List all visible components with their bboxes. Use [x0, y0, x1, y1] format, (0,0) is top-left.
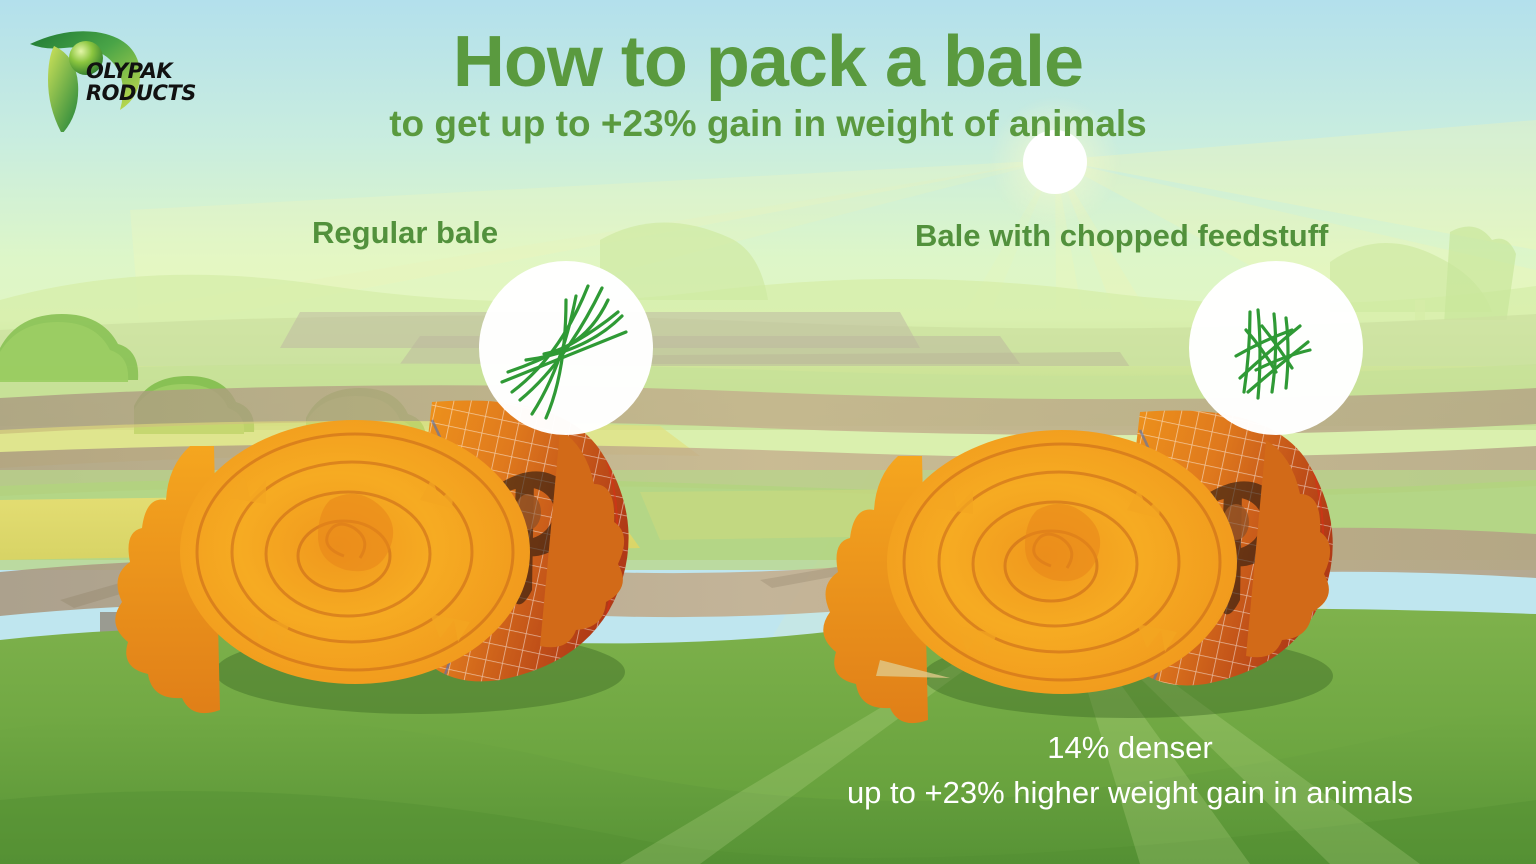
- page-title: How to pack a bale: [0, 26, 1536, 98]
- brand-logo-text: OLYPAK RODUCTS: [86, 60, 196, 104]
- infographic-canvas: How to pack a bale to get up to +23% gai…: [0, 0, 1536, 864]
- label-chopped-bale: Bale with chopped feedstuff: [915, 218, 1328, 254]
- brand-logo-line1: OLYPAK: [86, 60, 196, 82]
- caption-weight-gain: up to +23% higher weight gain in animals: [760, 775, 1500, 811]
- page-subtitle: to get up to +23% gain in weight of anim…: [0, 104, 1536, 145]
- caption-density: 14% denser: [760, 730, 1500, 766]
- brand-logo-line2: RODUCTS: [86, 82, 196, 104]
- brand-logo: OLYPAK RODUCTS: [24, 22, 184, 132]
- label-regular-bale: Regular bale: [312, 215, 498, 251]
